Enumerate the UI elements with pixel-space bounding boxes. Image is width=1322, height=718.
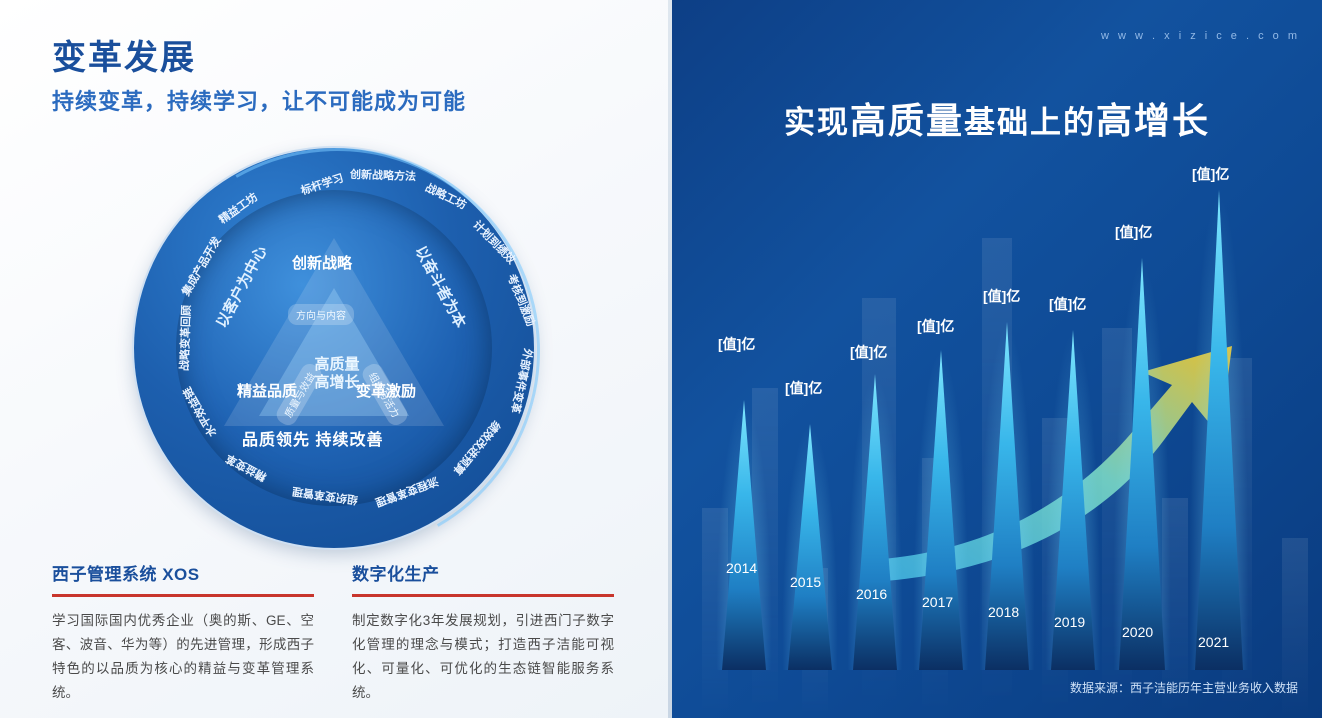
- x-label-2021: 2021: [1198, 634, 1229, 650]
- page-title: 变革发展: [52, 30, 196, 79]
- column-body: 制定数字化3年发展规划，引进西门子数字化管理的理念与模式；打造西子洁能可视化、可…: [352, 609, 614, 705]
- column-heading: 数字化生产: [352, 560, 614, 585]
- column-xos: 西子管理系统 XOS 学习国际国内优秀企业（奥的斯、GE、空客、波音、华为等）的…: [52, 560, 314, 705]
- value-label-2021: [值]亿: [1192, 164, 1229, 184]
- value-label-2019: [值]亿: [1049, 294, 1086, 314]
- diagram-core: 高质量 高增长: [282, 356, 392, 392]
- bar-2020: [1119, 258, 1165, 670]
- site-watermark: w w w . x i z i c e . c o m: [1101, 30, 1300, 42]
- chart-title-part-2: 基础上的: [964, 105, 1096, 140]
- value-label-2014: [值]亿: [718, 334, 755, 354]
- value-label-2018: [值]亿: [983, 286, 1020, 306]
- ring-label: 创新战略方法: [350, 166, 417, 184]
- core-line-2: 高增长: [282, 374, 392, 392]
- ring-label: 战略变革回顾: [176, 305, 194, 372]
- chart-title-strong-1: 高质量: [850, 100, 964, 141]
- x-label-2018: 2018: [988, 604, 1019, 620]
- bar-2016: [853, 374, 897, 670]
- value-label-2015: [值]亿: [785, 378, 822, 398]
- divider: [352, 594, 614, 597]
- value-label-2020: [值]亿: [1115, 222, 1152, 242]
- chart-source: 数据来源：西子洁能历年主营业务收入数据: [1070, 679, 1298, 696]
- xos-diagram: 标杆学习 创新战略方法 战略工坊 计划到绩效 考核到激励 外部事件变革 绩效改进…: [124, 148, 544, 548]
- bar-2015: [788, 424, 832, 670]
- x-label-2019: 2019: [1054, 614, 1085, 630]
- bar-2021: [1195, 190, 1243, 670]
- value-label-2016: [值]亿: [850, 342, 887, 362]
- value-label-2017: [值]亿: [917, 316, 954, 336]
- bar-2014: [722, 400, 766, 670]
- column-body: 学习国际国内优秀企业（奥的斯、GE、空客、波音、华为等）的先进管理，形成西子特色…: [52, 609, 314, 705]
- core-line-1: 高质量: [282, 356, 392, 374]
- node-top: 创新战略: [292, 252, 352, 273]
- column-heading: 西子管理系统 XOS: [52, 560, 314, 585]
- x-label-2017: 2017: [922, 594, 953, 610]
- divider: [52, 594, 314, 597]
- x-label-2014: 2014: [726, 560, 757, 576]
- bar-2017: [919, 350, 963, 670]
- chart-title-part-1: 实现: [784, 105, 850, 140]
- pill-top: 方向与内容: [288, 304, 354, 325]
- x-label-2016: 2016: [856, 586, 887, 602]
- bar-chart: [值]亿 [值]亿 [值]亿 [值]亿 [值]亿 [值]亿 [值]亿 [值]亿 …: [672, 150, 1322, 670]
- page-subtitle: 持续变革，持续学习，让不可能成为可能: [52, 84, 466, 116]
- left-panel: 变革发展 持续变革，持续学习，让不可能成为可能 标杆学习 创新战略方法 战略工坊…: [0, 0, 672, 718]
- chart-title-strong-2: 高增长: [1096, 100, 1210, 141]
- chart-title: 实现高质量基础上的高增长: [672, 92, 1322, 144]
- slide: 变革发展 持续变革，持续学习，让不可能成为可能 标杆学习 创新战略方法 战略工坊…: [0, 0, 1322, 718]
- right-panel: w w w . x i z i c e . c o m 实现高质量基础上的高增长: [672, 0, 1322, 718]
- x-label-2020: 2020: [1122, 624, 1153, 640]
- x-label-2015: 2015: [790, 574, 821, 590]
- diagram-slogan: 品质领先 持续改善: [242, 426, 383, 450]
- column-digital: 数字化生产 制定数字化3年发展规划，引进西门子数字化管理的理念与模式；打造西子洁…: [352, 560, 614, 705]
